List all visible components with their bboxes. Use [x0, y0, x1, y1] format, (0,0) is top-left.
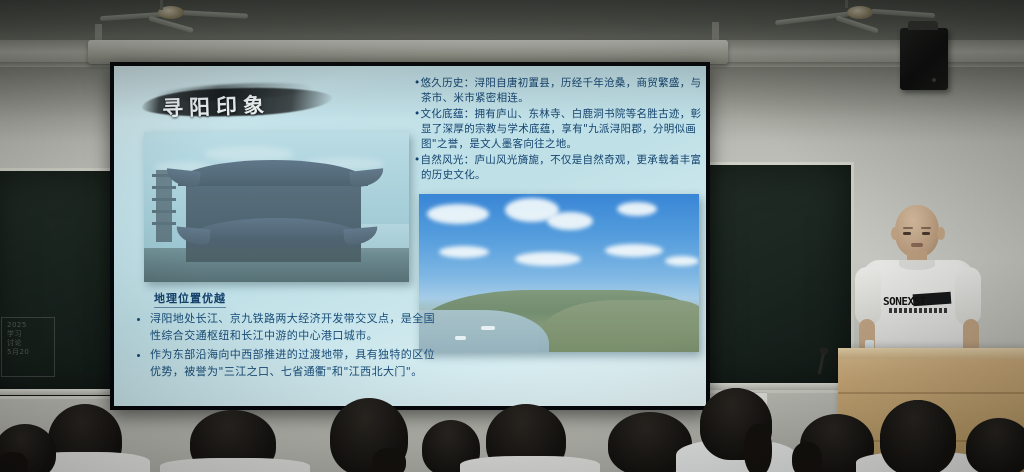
slide-bullet-0: •悠久历史：浔阳自唐初置县，历经千年沧桑，商贸繁盛，与茶市、米市紧密相连。 [414, 76, 704, 106]
fan-rod-right [845, 0, 848, 8]
presenter-head [895, 205, 939, 257]
audience-hair [0, 452, 28, 472]
audience-shoulder [460, 456, 600, 472]
slide-geo-item-0: 浔阳地处长江、京九铁路两大经济开发带交叉点，是全国性综合交通枢纽和长江中游的中心… [150, 310, 440, 344]
slide-image-temple [144, 132, 409, 282]
audience-head [966, 418, 1024, 472]
projector-screen-housing [88, 40, 728, 64]
audience-shoulder [160, 458, 310, 472]
chalk-tray-right [700, 383, 848, 390]
slide-bullet-1: •文化底蕴：拥有庐山、东林寺、白鹿洞书院等名胜古迹，彰显了深厚的宗教与学术底蕴，… [414, 107, 704, 152]
projection-screen: 寻阳印象 [110, 62, 710, 410]
audience-head [880, 400, 956, 472]
slide-title: 寻阳印象 [162, 87, 323, 123]
chalk-tray-left [0, 389, 120, 395]
slide-title-brush: 寻阳印象 [142, 82, 332, 122]
slide-geo-list: 浔阳地处长江、京九铁路两大经济开发带交叉点，是全国性综合交通枢纽和长江中游的中心… [136, 310, 440, 382]
fan-rod-left [160, 0, 163, 10]
presentation-slide: 寻阳印象 [114, 66, 706, 406]
audience-hair [372, 448, 406, 472]
slide-bullet-2: •自然风光：庐山风光旖旎，不仅是自然奇观，更承载着丰富的历史文化。 [414, 153, 704, 183]
ceiling-fan-left-icon [100, 2, 250, 32]
audience-hair [744, 424, 772, 472]
wall-speaker-icon [900, 28, 948, 90]
slide-geo-item-1: 作为东部沿海向中西部推进的过渡地带，具有独特的区位优势，被誉为"三江之口、七省通… [150, 346, 440, 380]
audience-hair [792, 442, 822, 472]
slide-geo-heading: 地理位置优越 [154, 290, 226, 308]
classroom-scene: 2025学习讨论5月20 寻阳印象 [0, 0, 1024, 472]
presenter-shirt-graphic: SONEXST [883, 293, 951, 317]
slide-image-landscape [419, 194, 699, 352]
presenter-shirt-text: SONEXST [883, 295, 951, 308]
blackboard-left: 2025学习讨论5月20 [0, 168, 126, 399]
slide-bullet-list: •悠久历史：浔阳自唐初置县，历经千年沧桑，商贸繁盛，与茶市、米市紧密相连。 •文… [414, 76, 704, 184]
blackboard-right [700, 162, 854, 393]
